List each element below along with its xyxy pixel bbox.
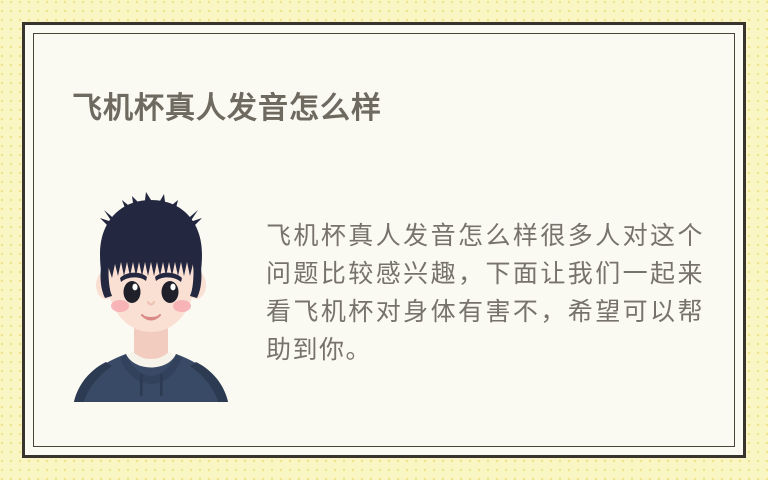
avatar [72, 186, 230, 402]
avatar-illustration [72, 186, 230, 402]
card-inner-frame: 飞机杯真人发音怎么样 [33, 33, 735, 447]
page-title: 飞机杯真人发音怎么样 [72, 90, 382, 128]
article-paragraph: 飞机杯真人发音怎么样很多人对这个问题比较感兴趣，下面让我们一起来看飞机杯对身体有… [266, 217, 704, 369]
page-background: 飞机杯真人发音怎么样 [0, 0, 768, 480]
card-body: 飞机杯真人发音怎么样 [34, 34, 734, 446]
card-outer-frame: 飞机杯真人发音怎么样 [22, 22, 746, 458]
